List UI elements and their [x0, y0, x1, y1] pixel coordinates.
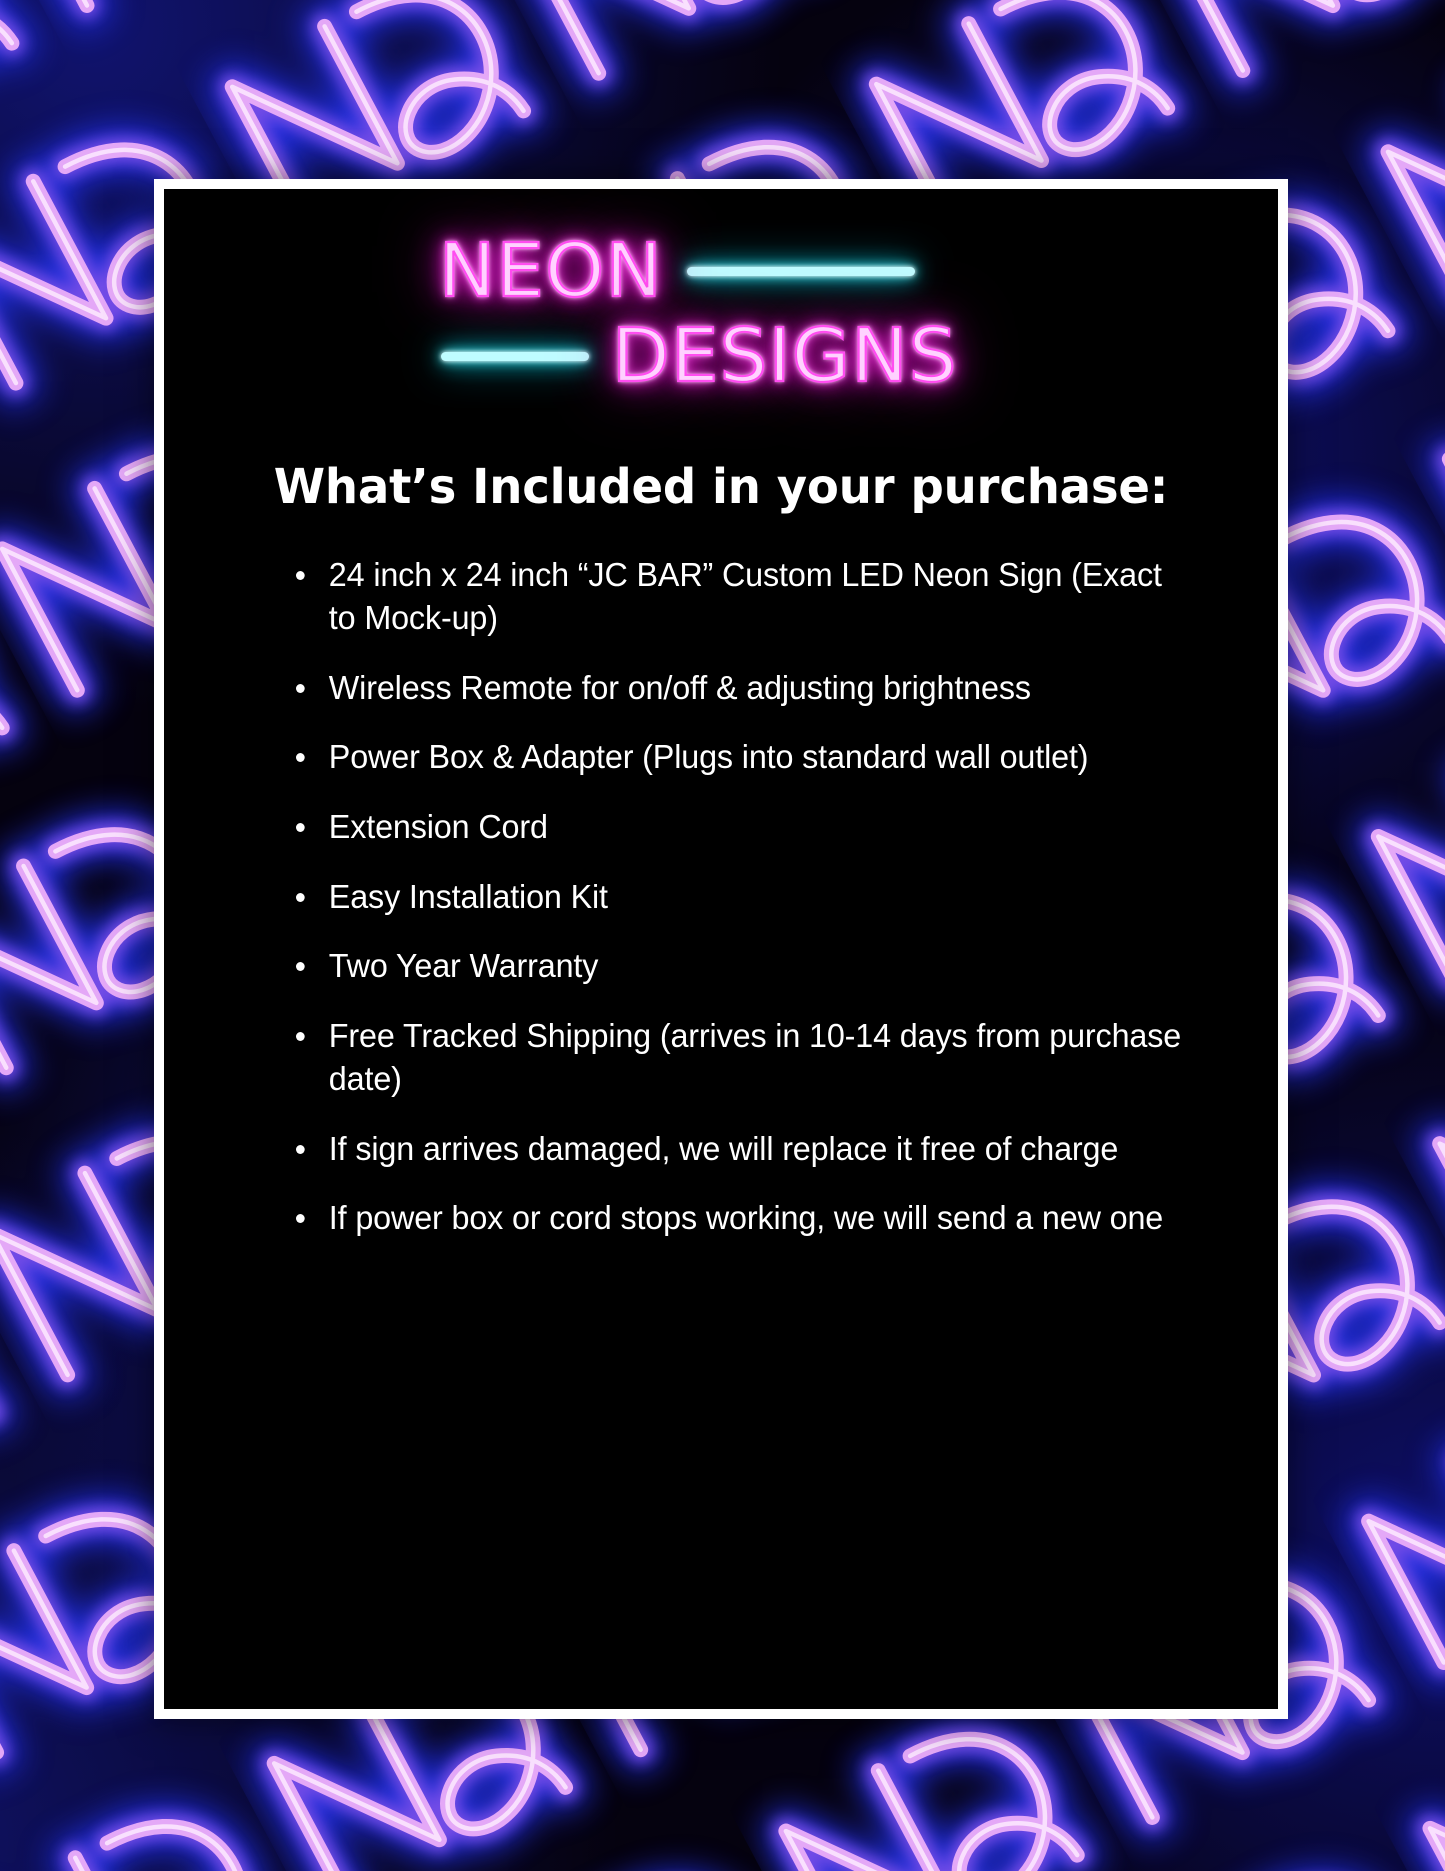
list-item: If sign arrives damaged, we will replace… — [296, 1128, 1190, 1172]
list-item: Two Year Warranty — [296, 945, 1190, 989]
list-item: Power Box & Adapter (Plugs into standard… — [296, 736, 1190, 780]
cyan-bar-bottom-icon — [441, 352, 589, 361]
poster-card: NEON DESIGNS What’s Included in your pur… — [164, 189, 1278, 1709]
logo-row-top: NEON — [441, 234, 915, 308]
list-item: Easy Installation Kit — [296, 876, 1190, 920]
logo-word-designs: DESIGNS — [612, 319, 958, 393]
list-item: 24 inch x 24 inch “JC BAR” Custom LED Ne… — [296, 554, 1190, 641]
list-item: If power box or cord stops working, we w… — [296, 1197, 1190, 1241]
list-item: Extension Cord — [296, 806, 1190, 850]
cyan-bar-top-icon — [687, 267, 915, 276]
poster-page: NEON DESIGNS What’s Included in your pur… — [0, 0, 1445, 1871]
list-item: Wireless Remote for on/off & adjusting b… — [296, 667, 1190, 711]
poster-card-frame: NEON DESIGNS What’s Included in your pur… — [154, 179, 1288, 1719]
neon-designs-logo: NEON DESIGNS — [441, 234, 1001, 424]
included-items-list: 24 inch x 24 inch “JC BAR” Custom LED Ne… — [164, 554, 1278, 1241]
logo-word-neon: NEON — [439, 234, 663, 308]
list-item: Free Tracked Shipping (arrives in 10-14 … — [296, 1015, 1190, 1102]
page-title: What’s Included in your purchase: — [181, 462, 1262, 514]
logo-row-bottom: DESIGNS — [441, 319, 954, 393]
